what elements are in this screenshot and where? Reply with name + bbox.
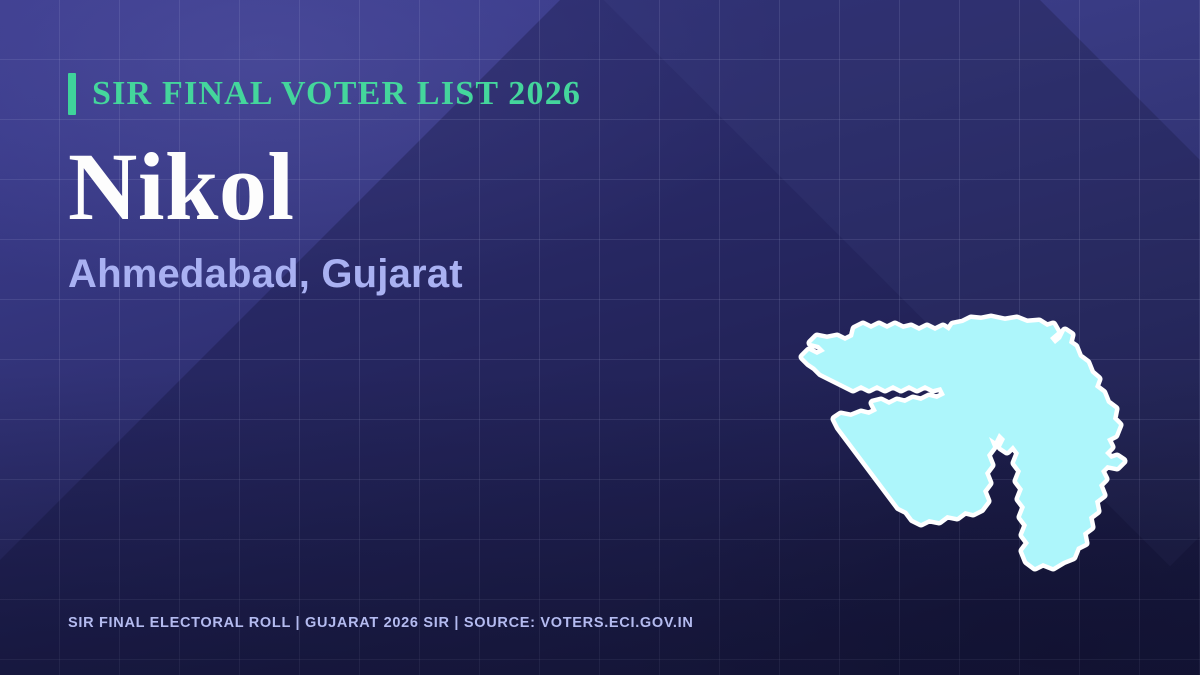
page-subtitle: Ahmedabad, Gujarat <box>68 252 768 297</box>
eyebrow-label: SIR FINAL VOTER LIST 2026 <box>92 77 581 111</box>
accent-bar-icon <box>68 73 76 115</box>
gujarat-state-outline-icon <box>803 318 1123 567</box>
eyebrow-row: SIR FINAL VOTER LIST 2026 <box>68 72 768 116</box>
gujarat-map-svg <box>795 305 1135 590</box>
voter-list-card: SIR FINAL VOTER LIST 2026 Nikol Ahmedaba… <box>0 0 1200 675</box>
gujarat-map <box>795 305 1135 590</box>
page-title: Nikol <box>68 138 768 236</box>
footer-source-text: SIR FINAL ELECTORAL ROLL | GUJARAT 2026 … <box>68 615 694 631</box>
headline-block: SIR FINAL VOTER LIST 2026 Nikol Ahmedaba… <box>68 72 768 297</box>
